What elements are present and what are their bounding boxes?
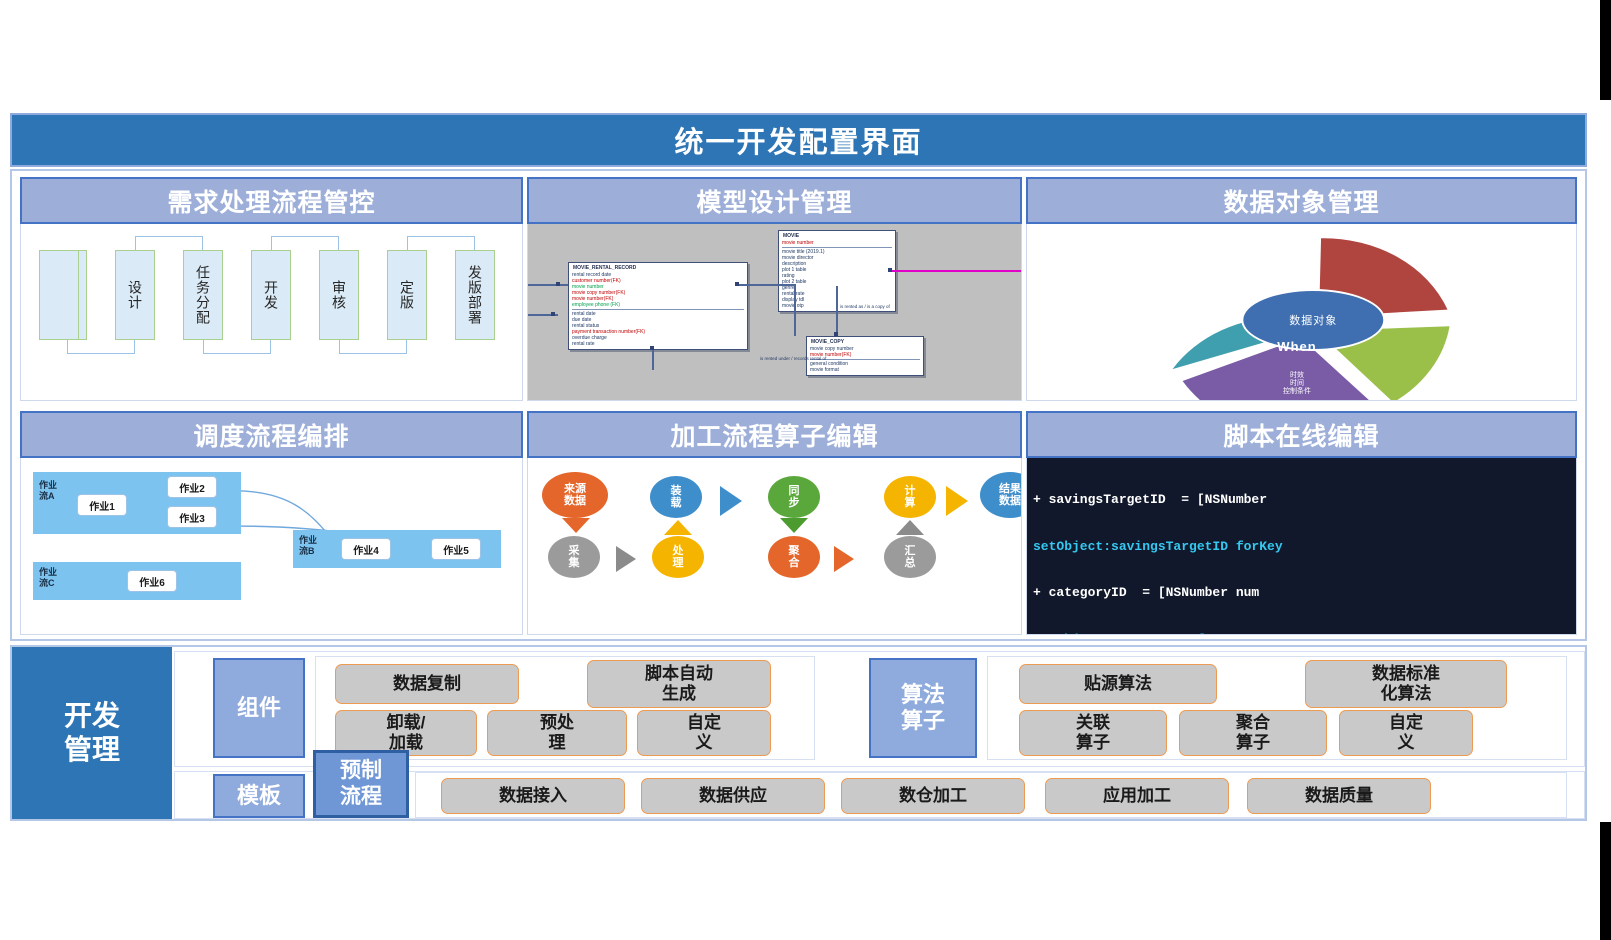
- right-edge-bar-bottom: [1600, 822, 1611, 940]
- panel-schedule-flow[interactable]: 调度流程编排 作业 流A 作业1 作业2 作业3: [20, 411, 523, 635]
- er-table-divider: [810, 359, 920, 360]
- dev-row-templates: 模板 预制 流程 数据接入 数据供应 数仓加工 应用加工 数据质量: [174, 771, 1585, 819]
- flow-step-3[interactable]: 任务分配: [183, 250, 223, 340]
- operator-node-source-data[interactable]: 来源 数据: [542, 472, 608, 518]
- panel-body-model: MOVIE_RENTAL_RECORD rental record date c…: [527, 224, 1022, 401]
- page-title-bar: 统一开发配置界面: [10, 113, 1587, 167]
- job-node-2[interactable]: 作业2: [167, 476, 217, 498]
- chip-aggregate-operator[interactable]: 聚合 算子: [1179, 710, 1327, 756]
- panel-header-model: 模型设计管理: [527, 177, 1022, 224]
- chip-data-standardization-algorithm[interactable]: 数据标准 化算法: [1305, 660, 1507, 708]
- panel-body-dataobject: 数据对象 Who 数据对象定义信息 How 处理数据过程需求及规范 字段mapp…: [1026, 224, 1577, 401]
- panel-header-label: 调度流程编排: [193, 417, 349, 453]
- er-field: movie format: [810, 367, 920, 373]
- panel-requirement-process[interactable]: 需求处理流程管控 需求分析 设计 任务分配 开发 审核 定版 发版部署: [20, 177, 523, 401]
- er-edge-left-1: [528, 284, 568, 286]
- chip-preprocess[interactable]: 预处 理: [487, 710, 627, 756]
- panel-header-label: 脚本在线编辑: [1223, 417, 1379, 453]
- er-table-movie-rental-record[interactable]: MOVIE_RENTAL_RECORD rental record date c…: [568, 262, 748, 350]
- er-relationship-label-2: is rented under / records rental of: [760, 356, 826, 361]
- job-node-5[interactable]: 作业5: [431, 538, 481, 560]
- panel-header-schedule: 调度流程编排: [20, 411, 523, 458]
- job-flow-label: 作业 流C: [39, 567, 57, 589]
- flow-connector-top-3: [407, 236, 475, 250]
- panel-body-requirement: 需求分析 设计 任务分配 开发 审核 定版 发版部署: [20, 224, 523, 401]
- chip-data-ingestion[interactable]: 数据接入: [441, 778, 625, 814]
- panel-header-requirement: 需求处理流程管控: [20, 177, 523, 224]
- wheel-segment-where: Where 存放数据信息 Mapping关系: [1427, 302, 1567, 386]
- panel-operator-edit[interactable]: 加工流程算子编辑 来源 数据 装 载 同 步 计 算 结果 数据 采 集 处 理…: [527, 411, 1022, 635]
- chip-custom-operator[interactable]: 自定 义: [1339, 710, 1473, 756]
- category-algorithm-operator[interactable]: 算法 算子: [869, 658, 977, 758]
- er-table-name: MOVIE_COPY: [811, 339, 920, 345]
- dev-management-title-label: 开发 管理: [64, 699, 120, 767]
- chip-join-operator[interactable]: 关联 算子: [1019, 710, 1167, 756]
- er-field: movie number(FK): [810, 352, 920, 358]
- arrow-up-icon-process-load: [664, 520, 692, 535]
- code-line: setObject:categoryID forKey:: [1033, 632, 1576, 635]
- panel-data-object[interactable]: 数据对象管理 数据对象: [1026, 177, 1577, 401]
- segment-name: Who: [1197, 252, 1347, 267]
- operator-node-load[interactable]: 装 载: [650, 476, 702, 518]
- flow-connector-bottom-2: [203, 340, 271, 354]
- job-flow-label: 作业 流B: [299, 535, 317, 557]
- segment-desc: 时效 时间 控制条件: [1232, 372, 1362, 395]
- flow-step-4[interactable]: 开发: [251, 250, 291, 340]
- category-prefab-flow[interactable]: 预制 流程: [313, 750, 409, 818]
- er-endpoint-2: [551, 312, 555, 316]
- er-edge-mid-v: [794, 284, 796, 336]
- er-relationship-label-1: is rented as / is a copy of: [840, 304, 890, 309]
- er-endpoint-4: [735, 282, 739, 286]
- wheel-segment-who: Who 数据对象定义信息: [1197, 252, 1347, 274]
- arrow-right-icon-aggregate-summarize: [834, 546, 854, 572]
- segment-desc: 存放数据信息 Mapping关系: [1427, 352, 1567, 368]
- dev-management-title: 开发 管理: [12, 647, 172, 819]
- er-field: movie number: [782, 240, 892, 246]
- arrow-right-icon-load-sync: [720, 486, 742, 516]
- code-editor-area[interactable]: + savingsTargetID = [NSNumber setObject:…: [1027, 458, 1576, 634]
- flow-step-7[interactable]: 发版部署: [455, 250, 495, 340]
- er-table-name: MOVIE_RENTAL_RECORD: [573, 265, 744, 271]
- dev-management-content: 组件 数据复制 脚本自动 生成 卸载/ 加载 预处 理 自定 义 算法 算子 贴…: [174, 647, 1585, 819]
- panel-model-design[interactable]: 模型设计管理 MOVIE_RENTAL_RECORD rental record…: [527, 177, 1022, 401]
- chip-script-auto-generation[interactable]: 脚本自动 生成: [587, 660, 771, 708]
- er-table-name: MOVIE: [783, 233, 892, 239]
- panel-header-operator: 加工流程算子编辑: [527, 411, 1022, 458]
- er-endpoint-3: [888, 268, 892, 272]
- panel-header-label: 加工流程算子编辑: [670, 417, 878, 453]
- arrow-up-icon-summarize-compute: [896, 520, 924, 535]
- page-title: 统一开发配置界面: [674, 119, 922, 161]
- development-management-section: 开发 管理 组件 数据复制 脚本自动 生成 卸载/ 加载 预处 理 自定 义 算…: [10, 645, 1587, 821]
- arrow-down-icon-sync-aggregate: [780, 518, 808, 533]
- er-endpoint-6: [650, 346, 654, 350]
- chip-custom-component[interactable]: 自定 义: [637, 710, 771, 756]
- flow-step-5-spacer: [39, 250, 79, 340]
- job-node-4[interactable]: 作业4: [341, 538, 391, 560]
- flow-connector-top-2: [271, 236, 339, 250]
- flow-step-2[interactable]: 设计: [115, 250, 155, 340]
- slide-canvas: 统一开发配置界面 需求处理流程管控 需求分析 设计 任务分配 开发 审核: [10, 113, 1593, 821]
- er-edge-mid-h: [738, 284, 796, 286]
- er-table-divider: [782, 247, 892, 248]
- er-edge-down: [652, 348, 654, 370]
- flow-connector-top-1: [135, 236, 203, 250]
- panel-body-schedule: 作业 流A 作业1 作业2 作业3 作业 流B 作业4 作业5 作业 流C 作业…: [20, 458, 523, 635]
- chip-source-algorithm[interactable]: 贴源算法: [1019, 664, 1217, 704]
- er-table-divider: [572, 309, 744, 310]
- chip-data-quality[interactable]: 数据质量: [1247, 778, 1431, 814]
- operator-node-collect[interactable]: 采 集: [548, 536, 600, 578]
- operator-node-sync[interactable]: 同 步: [768, 476, 820, 518]
- operator-node-summarize[interactable]: 汇 总: [884, 536, 936, 578]
- panel-grid: 需求处理流程管控 需求分析 设计 任务分配 开发 审核 定版 发版部署: [10, 169, 1587, 641]
- arrow-right-icon-collect-process: [616, 546, 636, 572]
- chip-data-replication[interactable]: 数据复制: [335, 664, 519, 704]
- chip-warehouse-processing[interactable]: 数仓加工: [841, 778, 1025, 814]
- panel-header-label: 需求处理流程管控: [167, 183, 375, 219]
- wheel-segment-when: When 时效 时间 控制条件: [1232, 322, 1362, 401]
- flow-connector-bottom-3: [339, 340, 407, 354]
- er-edge-movie-copy: [836, 286, 838, 336]
- code-line: + savingsTargetID = [NSNumber: [1033, 492, 1576, 508]
- job-node-1[interactable]: 作业1: [77, 494, 127, 516]
- operator-node-process[interactable]: 处 理: [652, 536, 704, 578]
- code-line: setObject:savingsTargetID forKey: [1033, 539, 1576, 555]
- panel-header-dataobject: 数据对象管理: [1026, 177, 1577, 224]
- requirement-flow-diagram: 需求分析 设计 任务分配 开发 审核 定版 发版部署: [39, 232, 514, 396]
- flow-step-6[interactable]: 定版: [387, 250, 427, 340]
- code-line: + categoryID = [NSNumber num: [1033, 585, 1576, 601]
- category-components[interactable]: 组件: [213, 658, 305, 758]
- arrow-right-icon-compute-result: [946, 486, 968, 516]
- panel-body-operator: 来源 数据 装 载 同 步 计 算 结果 数据 采 集 处 理 聚 合 汇 总: [527, 458, 1022, 635]
- panel-header-script: 脚本在线编辑: [1026, 411, 1577, 458]
- right-edge-bar-top: [1600, 0, 1611, 100]
- operator-node-compute[interactable]: 计 算: [884, 476, 936, 518]
- er-endpoint-1: [556, 282, 560, 286]
- category-template[interactable]: 模板: [213, 774, 305, 818]
- panel-body-script: + savingsTargetID = [NSNumber setObject:…: [1026, 458, 1577, 635]
- wheel-segment-what: What 数据组成 数据用法 数据对象定义 配置执行图: [1069, 286, 1219, 386]
- flow-connector-bottom-1: [67, 340, 135, 354]
- segment-name: What: [1069, 304, 1219, 319]
- panel-header-label: 模型设计管理: [696, 183, 852, 219]
- segment-name: How: [1407, 256, 1557, 271]
- segment-desc: 数据组成 数据用法 数据对象定义 配置执行图: [1069, 336, 1219, 367]
- job-node-3[interactable]: 作业3: [167, 506, 217, 528]
- job-flow-label: 作业 流A: [39, 480, 57, 502]
- panel-row-2: 调度流程编排 作业 流A 作业1 作业2 作业3: [12, 405, 1585, 639]
- er-edge-magenta: [891, 270, 1021, 272]
- er-field: employee phone (FK): [572, 302, 744, 308]
- chip-data-supply[interactable]: 数据供应: [641, 778, 825, 814]
- segment-name: Where: [1427, 320, 1567, 335]
- data-object-wheel-chart: 数据对象 Who 数据对象定义信息 How 处理数据过程需求及规范 字段mapp…: [1027, 224, 1576, 400]
- operator-node-aggregate[interactable]: 聚 合: [768, 536, 820, 578]
- er-diagram[interactable]: MOVIE_RENTAL_RECORD rental record date c…: [528, 224, 1021, 400]
- panel-row-1: 需求处理流程管控 需求分析 设计 任务分配 开发 审核 定版 发版部署: [12, 171, 1585, 405]
- er-endpoint-5: [834, 332, 838, 336]
- segment-desc: 数据对象定义信息: [1197, 267, 1347, 275]
- panel-header-label: 数据对象管理: [1223, 183, 1379, 219]
- arrow-down-icon-source-collect: [562, 518, 590, 533]
- er-field: rental rate: [572, 341, 744, 347]
- chip-application-processing[interactable]: 应用加工: [1045, 778, 1229, 814]
- flow-step-5[interactable]: 审核: [319, 250, 359, 340]
- segment-name: When: [1232, 340, 1362, 355]
- job-node-6[interactable]: 作业6: [127, 570, 177, 592]
- panel-script-editor[interactable]: 脚本在线编辑 + savingsTargetID = [NSNumber set…: [1026, 411, 1577, 635]
- operator-node-result-data[interactable]: 结果 数据: [980, 472, 1022, 518]
